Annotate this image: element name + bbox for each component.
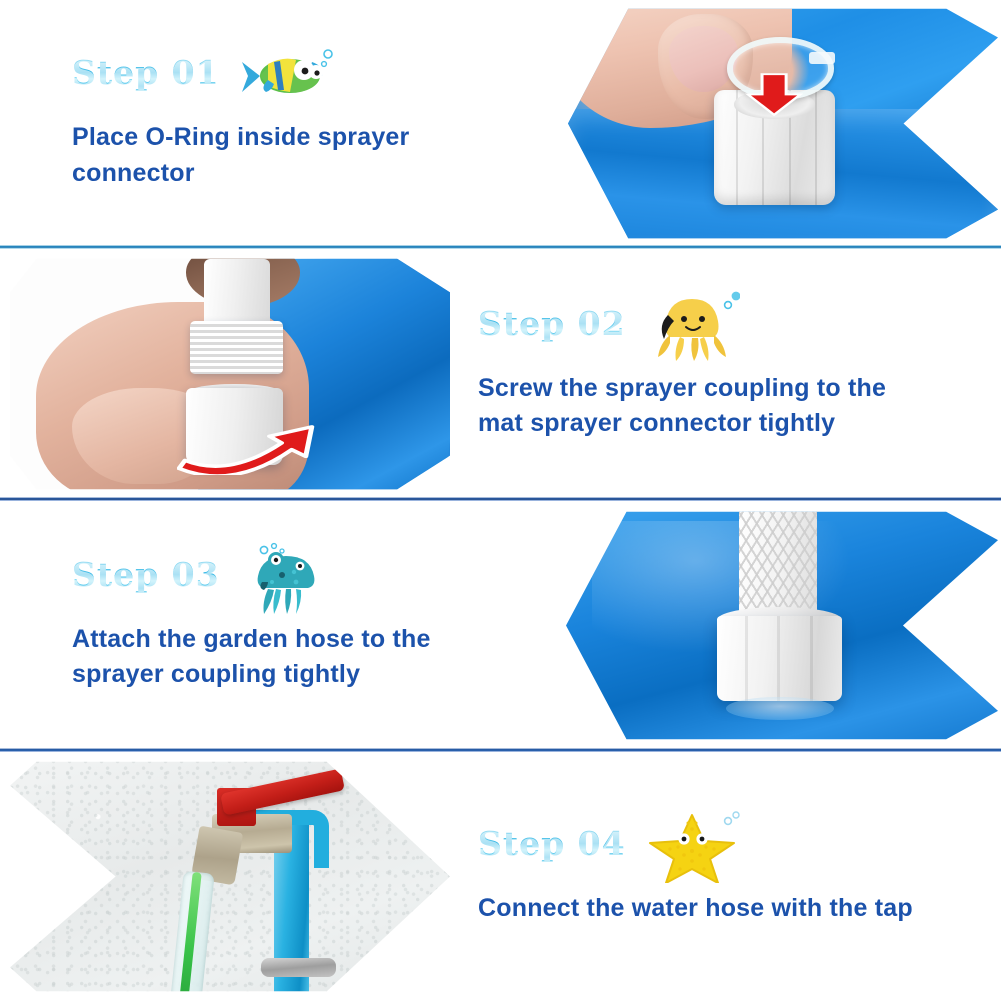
step-2-title: Step 02 [478,307,626,344]
step-row-3: Step 03 [0,502,1001,748]
divider-1 [0,245,1001,249]
step-2-heading-row: Step 02 [478,307,961,363]
white-coupling-nut [717,616,842,701]
fish-icon [238,40,334,112]
red-curved-arrow-icon [177,408,318,475]
step-3-description: Attach the garden hose to the sprayer co… [72,622,492,693]
octopus-icon [644,291,740,363]
step-2-description: Screw the sprayer coupling to the mat sp… [478,371,918,442]
step-3-photo-cell [560,502,1001,748]
step-4-description: Connect the water hose with the tap [478,891,918,927]
white-braided-hose [739,507,817,616]
step-row-2: Step 02 [0,250,1001,498]
step-2-photo-cell [0,250,460,498]
step-2-text-block: Step 02 [460,250,961,498]
metal-pipe-clamp [261,958,336,977]
step-4-heading-row: Step 04 [478,827,961,883]
threaded-section [190,321,282,374]
step-1-heading-row: Step 01 [72,56,560,112]
step-4-text-block: Step 04 [460,752,961,1001]
step-1-photo-cell [560,0,1001,247]
tap-connection-photo [10,757,450,996]
step-1-description: Place O-Ring inside sprayer connector [72,120,492,191]
divider-2 [0,497,1001,501]
step-3-title: Step 03 [72,558,220,595]
step-3-text-block: Step 03 [0,502,560,748]
step-1-title: Step 01 [72,56,220,93]
red-down-arrow-icon [744,73,804,116]
hose-attachment-photo [566,507,998,744]
step-1-text-block: Step 01 [0,0,560,247]
infographic-sheet: Step 01 [0,0,1001,1001]
oring-insertion-photo [568,4,998,243]
starfish-icon [644,811,740,883]
step-row-1: Step 01 [0,0,1001,247]
o-ring-tab [809,52,835,64]
step-4-title: Step 04 [478,827,626,864]
step-row-4: Step 04 [0,752,1001,1001]
mat-connector-base [726,697,834,721]
step-3-heading-row: Step 03 [72,558,560,614]
step-4-photo-cell [0,752,460,1001]
jellyfish-icon [238,542,334,614]
coupling-screw-photo [10,254,450,494]
